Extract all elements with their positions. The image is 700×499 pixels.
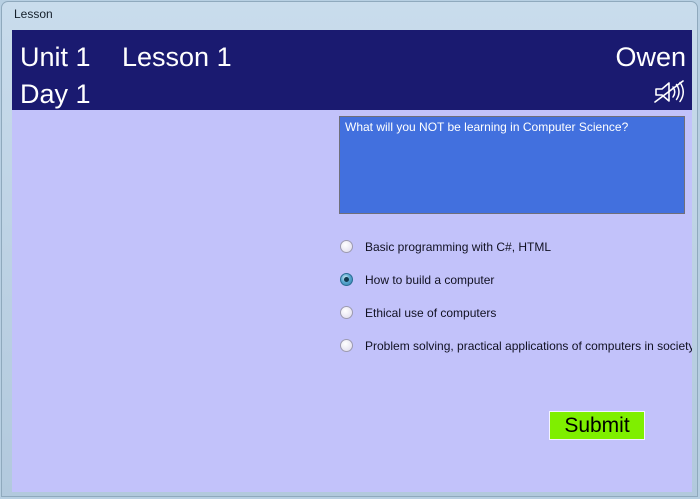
- window-outline: Lesson Unit 1 Lesson 1 Day 1 Owen: [1, 1, 698, 497]
- lesson-header-band: Unit 1 Lesson 1 Day 1 Owen: [12, 30, 692, 110]
- window-titlebar[interactable]: Lesson: [2, 2, 698, 29]
- lesson-label: Lesson 1: [122, 44, 232, 71]
- application-window: Lesson Unit 1 Lesson 1 Day 1 Owen: [0, 0, 700, 499]
- answer-option-label: Ethical use of computers: [365, 306, 496, 320]
- radio-button-icon[interactable]: [340, 273, 353, 286]
- radio-button-icon[interactable]: [340, 306, 353, 319]
- unit-label: Unit 1: [20, 44, 91, 71]
- radio-button-icon[interactable]: [340, 240, 353, 253]
- radio-button-icon[interactable]: [340, 339, 353, 352]
- submit-button[interactable]: Submit: [549, 411, 645, 440]
- answer-options-group: Basic programming with C#, HTML How to b…: [340, 230, 690, 362]
- answer-option-1[interactable]: Basic programming with C#, HTML: [340, 230, 690, 263]
- answer-option-label: Basic programming with C#, HTML: [365, 240, 551, 254]
- answer-option-label: Problem solving, practical applications …: [365, 339, 692, 353]
- answer-option-2[interactable]: How to build a computer: [340, 263, 690, 296]
- lesson-client-area: Unit 1 Lesson 1 Day 1 Owen What will you…: [12, 30, 692, 492]
- user-name-label: Owen: [615, 44, 686, 71]
- answer-option-4[interactable]: Problem solving, practical applications …: [340, 329, 690, 362]
- answer-option-label: How to build a computer: [365, 273, 494, 287]
- speaker-mute-icon[interactable]: [652, 78, 686, 106]
- question-panel: What will you NOT be learning in Compute…: [339, 116, 685, 214]
- answer-option-3[interactable]: Ethical use of computers: [340, 296, 690, 329]
- radio-selected-dot: [344, 277, 349, 282]
- question-text: What will you NOT be learning in Compute…: [345, 120, 680, 135]
- window-title: Lesson: [14, 7, 53, 21]
- day-label: Day 1: [20, 81, 91, 108]
